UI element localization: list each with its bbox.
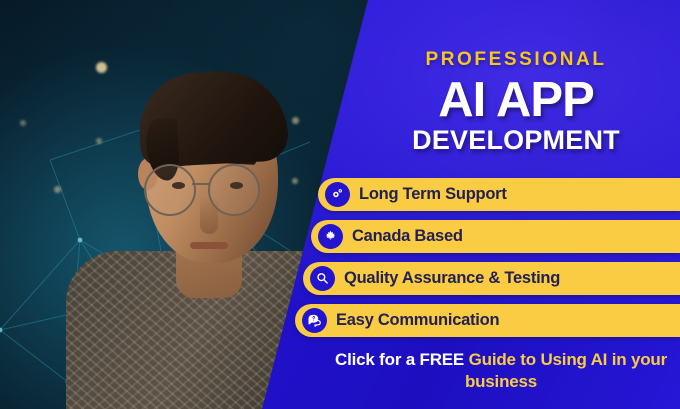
headline-block: PROFESSIONAL AI APP DEVELOPMENT [352,50,680,154]
ai-app-development-banner: PROFESSIONAL AI APP DEVELOPMENT Long Ter… [0,0,680,409]
feature-pill-easy-communication[interactable]: Easy Communication [295,304,680,337]
eyeglasses-icon [136,164,286,212]
feature-label: Long Term Support [359,185,507,204]
feature-pill-quality-assurance[interactable]: Quality Assurance & Testing [303,262,680,295]
feature-label: Canada Based [352,227,463,246]
hair [137,68,290,168]
feature-pill-long-term-support[interactable]: Long Term Support [318,178,680,211]
gears-icon [325,182,350,207]
headline-kicker: PROFESSIONAL [352,50,680,69]
headline-subtitle: DEVELOPMENT [352,127,680,154]
magnifier-icon [310,266,335,291]
feature-pill-canada-based[interactable]: Canada Based [311,220,680,253]
cta-white-part: Click for a FREE [335,350,469,369]
headline-main: AI APP [352,76,680,124]
maple-leaf-icon [318,224,343,249]
cta-yellow-part: Guide to Using AI in your business [465,350,667,391]
feature-label: Quality Assurance & Testing [344,269,560,288]
cta-text[interactable]: Click for a FREE Guide to Using AI in yo… [322,349,680,394]
mouth [190,242,228,249]
feature-label: Easy Communication [336,311,499,330]
chat-bubbles-icon [302,308,327,333]
